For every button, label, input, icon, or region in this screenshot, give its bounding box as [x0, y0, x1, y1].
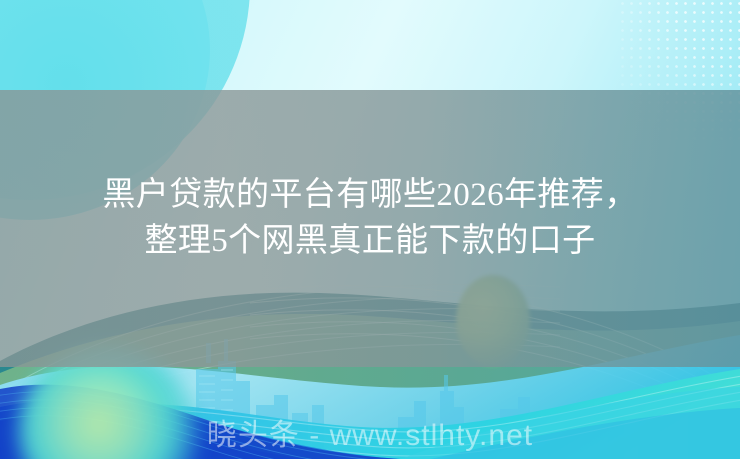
title-line-1: 黑户贷款的平台有哪些2026年推荐， [34, 172, 706, 218]
watermark-separator: - [300, 419, 330, 452]
watermark-url: www.stlhty.net [330, 419, 534, 452]
title-line-2: 整理5个网黑真正能下款的口子 [34, 218, 706, 264]
page-title: 黑户贷款的平台有哪些2026年推荐， 整理5个网黑真正能下款的口子 [0, 172, 740, 264]
article-cover-image: 黑户贷款的平台有哪些2026年推荐， 整理5个网黑真正能下款的口子 晓头条 - … [0, 0, 740, 459]
watermark-brand: 晓头条 [207, 418, 300, 453]
watermark: 晓头条 - www.stlhty.net [0, 419, 740, 453]
